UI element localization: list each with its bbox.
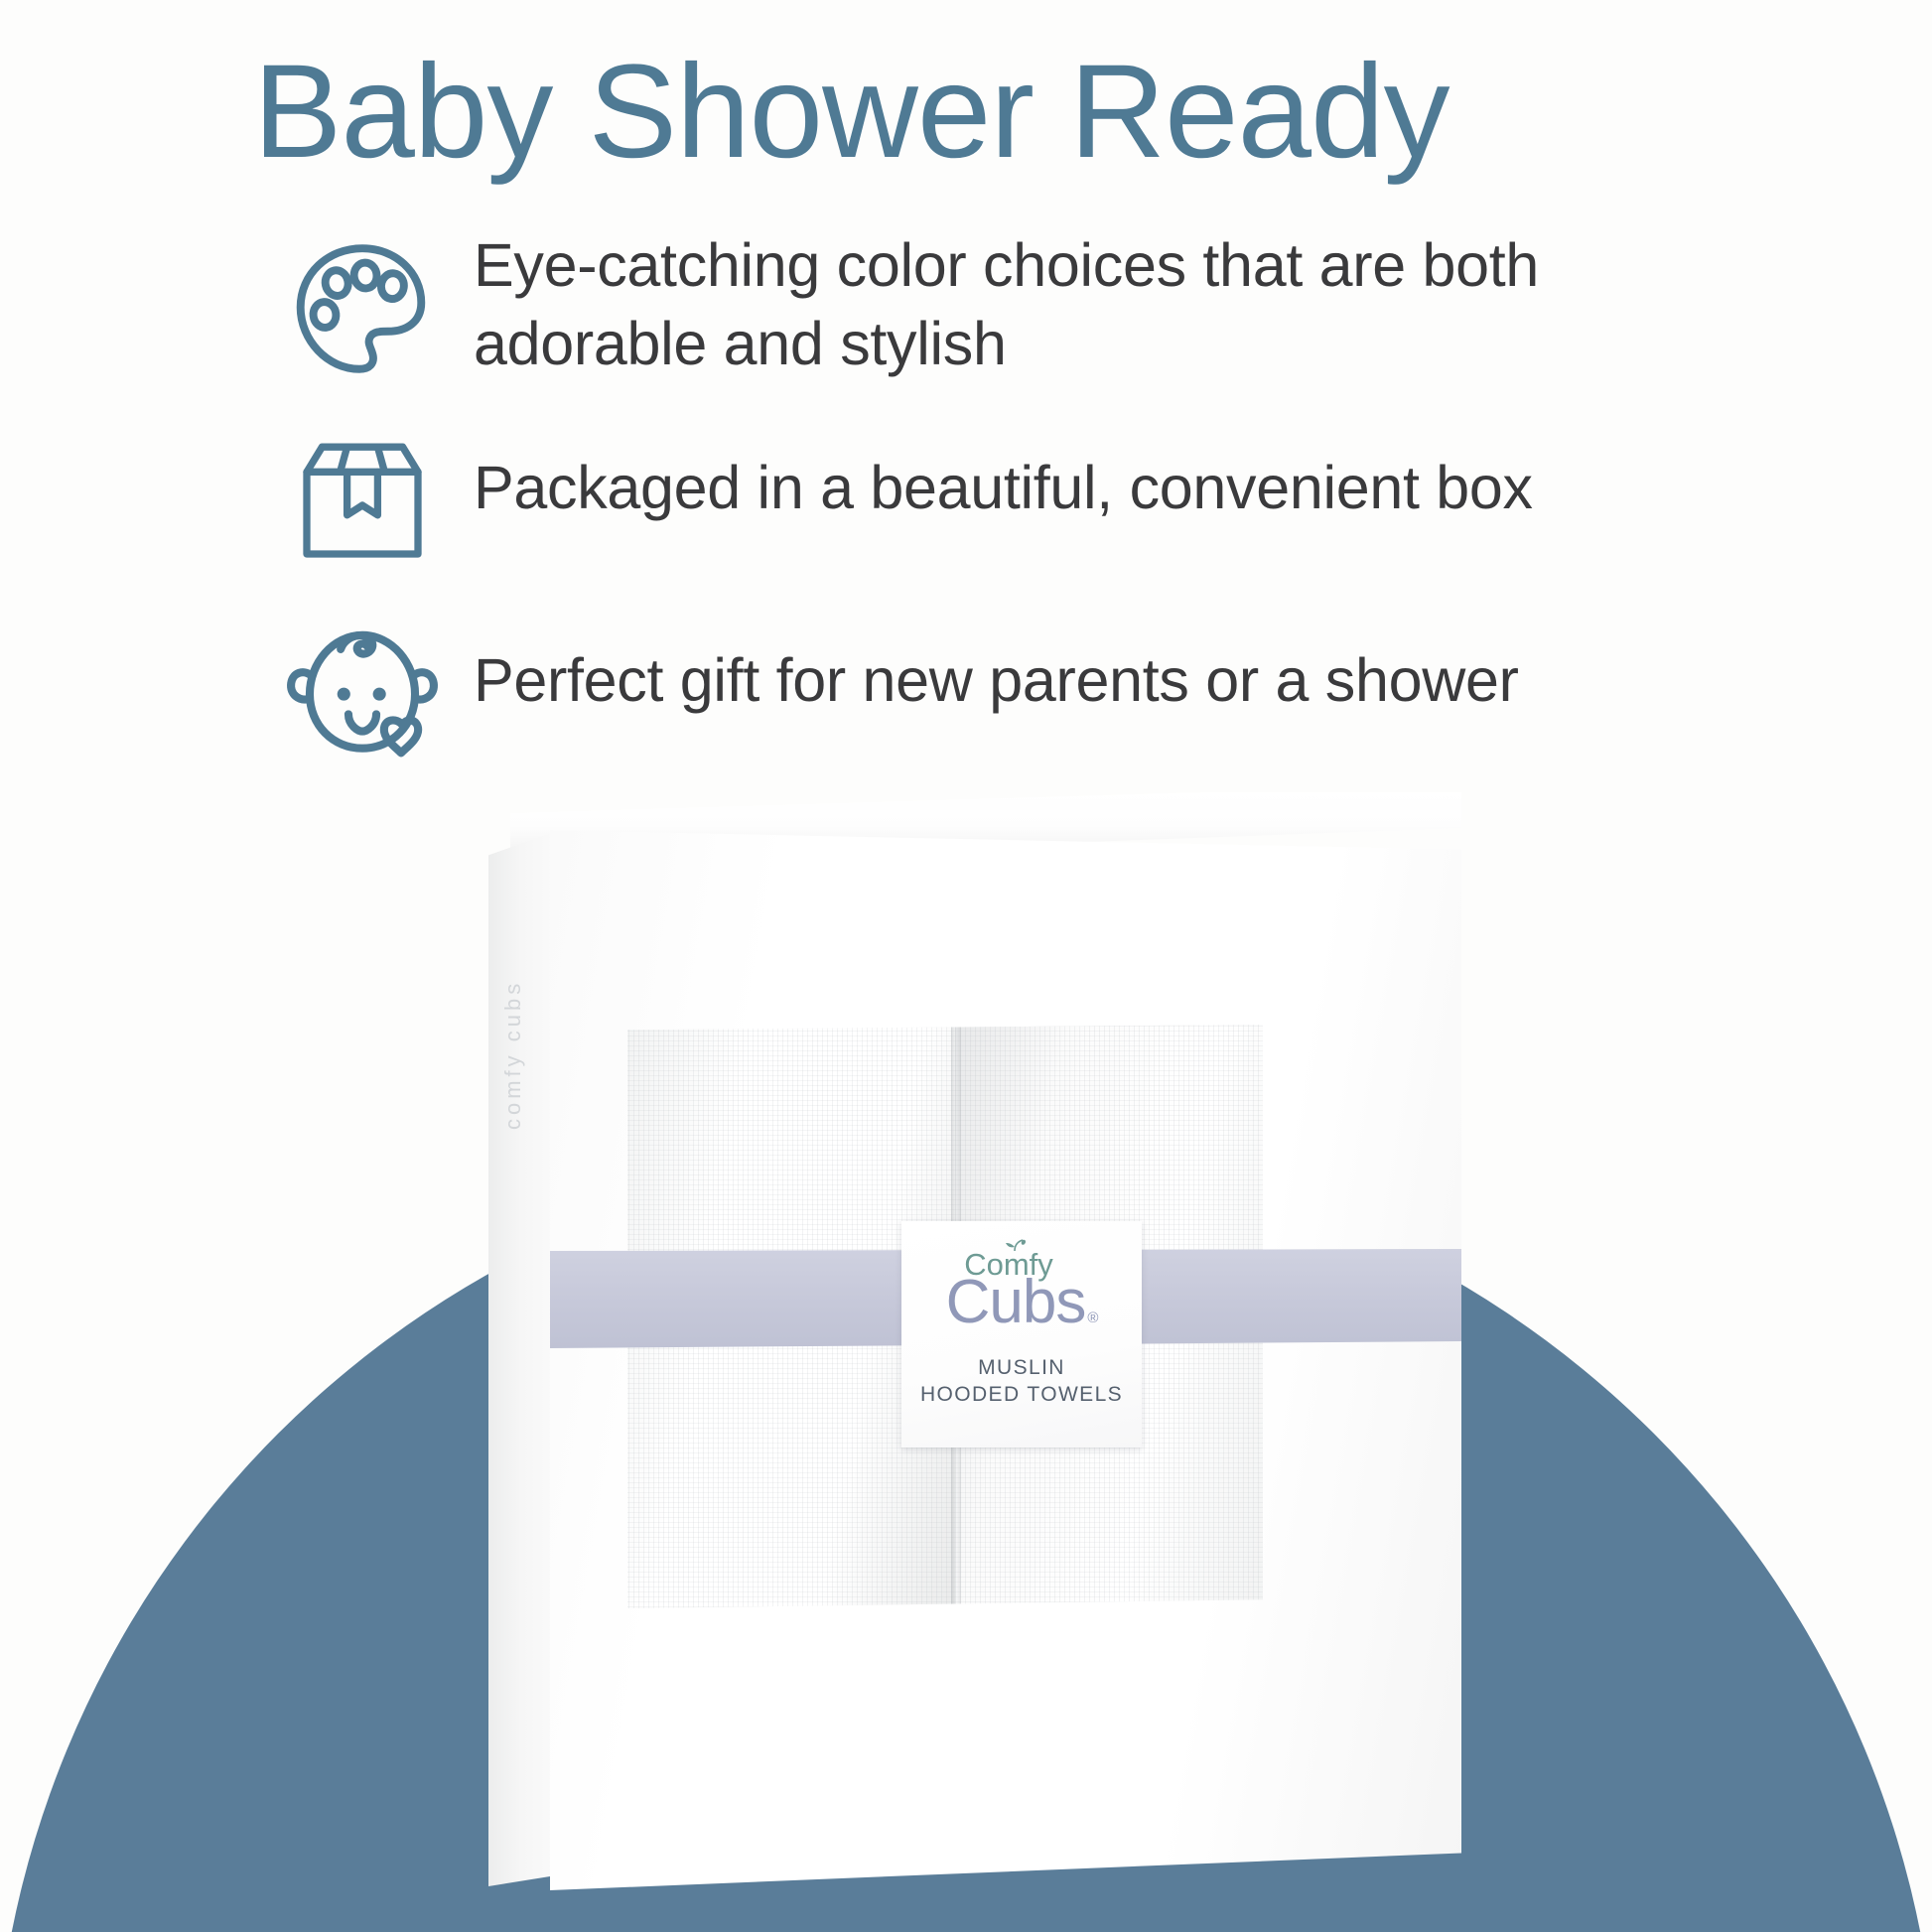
feature-item-gift: Perfect gift for new parents or a shower: [283, 596, 1752, 774]
feature-list: Eye-catching color choices that are both…: [283, 230, 1752, 774]
box-side-panel: comfy cubs: [488, 832, 554, 1886]
feature-item-color-choices: Eye-catching color choices that are both…: [283, 230, 1752, 407]
paint-palette-icon: [283, 232, 442, 391]
product-label-card: Comfy Cubs ® MUSLIN HOODED TOWELS: [901, 1221, 1142, 1448]
product-type-line-1: MUSLIN: [920, 1355, 1123, 1382]
baby-face-heart-icon: [283, 612, 442, 770]
product-type-lines: MUSLIN HOODED TOWELS: [920, 1355, 1123, 1409]
product-type-line-2: HOODED TOWELS: [920, 1382, 1123, 1409]
feature-item-packaging: Packaged in a beautiful, convenient box: [283, 407, 1752, 596]
product-box: comfy cubs Comfy Cubs ®: [488, 792, 1481, 1890]
box-side-text: comfy cubs: [500, 882, 526, 1130]
page-title: Baby Shower Ready: [253, 42, 1802, 183]
feature-item-label: Perfect gift for new parents or a shower: [442, 641, 1752, 720]
brand-name-cubs: Cubs ®: [946, 1272, 1098, 1333]
gift-box-icon: [283, 419, 442, 578]
registered-trademark-icon: ®: [1087, 1311, 1097, 1325]
feature-item-label: Eye-catching color choices that are both…: [442, 226, 1752, 384]
feature-item-label: Packaged in a beautiful, convenient box: [442, 449, 1752, 527]
product-infographic: Baby Shower Ready Eye-catching color cho…: [0, 0, 1932, 1932]
brand-cubs-text: Cubs: [946, 1272, 1086, 1333]
